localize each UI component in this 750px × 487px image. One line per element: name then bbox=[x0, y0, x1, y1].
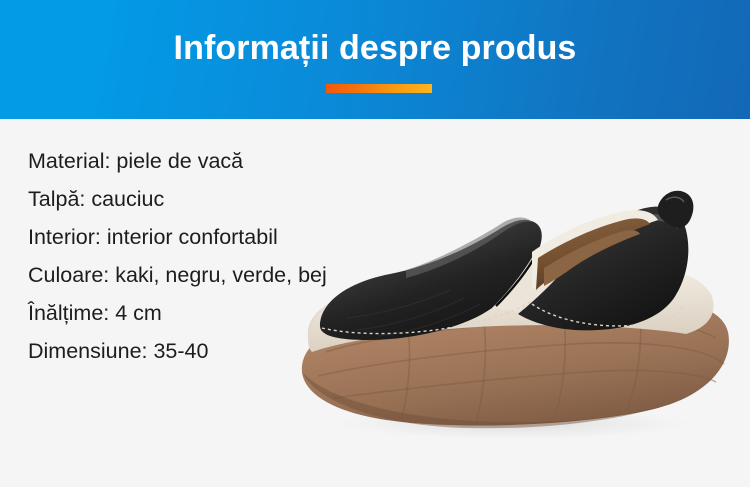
product-info-panel: Informații despre produs bbox=[0, 0, 750, 487]
spec-row-color: Culoare: kaki, negru, verde, bej bbox=[28, 256, 458, 294]
page-title: Informații despre produs bbox=[0, 26, 750, 70]
spec-row-interior: Interior: interior confortabil bbox=[28, 218, 458, 256]
title-underline-accent bbox=[326, 84, 432, 93]
spec-row-heel-height: Înălțime: 4 cm bbox=[28, 294, 458, 332]
spec-row-sole: Talpă: cauciuc bbox=[28, 180, 458, 218]
header-banner: Informații despre produs bbox=[0, 0, 750, 119]
spec-row-material: Material: piele de vacă bbox=[28, 142, 458, 180]
spec-row-size-range: Dimensiune: 35-40 bbox=[28, 332, 458, 370]
product-specs-list: Material: piele de vacă Talpă: cauciuc I… bbox=[28, 142, 458, 370]
